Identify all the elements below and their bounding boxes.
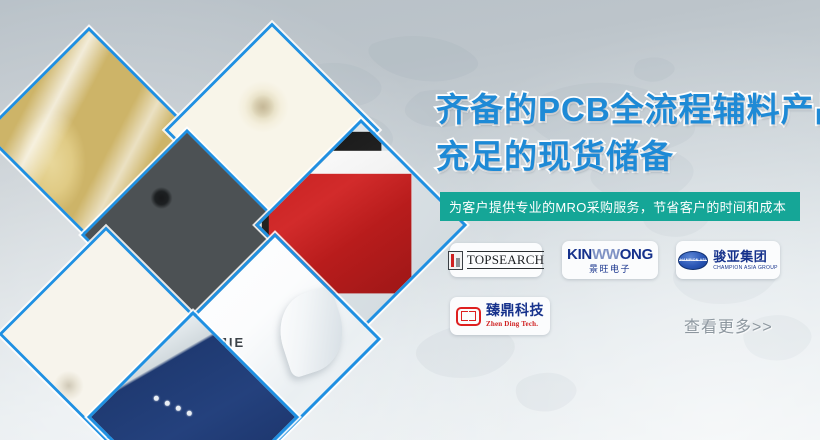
headline-line-2: 充足的现货储备 <box>436 133 820 180</box>
client-logo-topsearch[interactable]: TOPSEARCH <box>450 243 542 277</box>
product-image-collage: JIE <box>0 0 420 440</box>
bead-row-decoration <box>154 396 200 418</box>
promo-banner: JIE 齐备的PCB全流程辅料产品、 充足的现货储备 为客户提供专业的MRO采购… <box>0 0 820 440</box>
banner-subtitle-bar: 为客户提供专业的MRO采购服务，节省客户的时间和成本 <box>440 192 800 221</box>
topsearch-mark-icon <box>448 251 463 270</box>
headline-line-1: 齐备的PCB全流程辅料产品、 <box>436 86 820 133</box>
zhen-ding-name-cn-label: 臻鼎科技 <box>486 305 544 319</box>
banner-headline: 齐备的PCB全流程辅料产品、 充足的现货储备 <box>436 86 820 180</box>
champion-asia-name-en-label: CHAMPION ASIA GROUP <box>713 266 778 271</box>
kinwong-name-en-label: KINWWONG <box>567 247 653 262</box>
zhen-ding-name-en-label: Zhen Ding Tech. <box>486 321 544 328</box>
kinwong-name-cn-label: 景旺电子 <box>567 265 653 274</box>
globe-inner-text: CHAMPION ASIA <box>678 258 708 262</box>
champion-asia-name-cn-label: 骏亚集团 <box>713 250 778 263</box>
client-logo-zhen-ding[interactable]: 臻鼎科技 Zhen Ding Tech. <box>450 297 550 335</box>
client-logo-kinwong[interactable]: KINWWONG 景旺电子 <box>562 241 658 279</box>
view-more-link[interactable]: 查看更多>> <box>684 313 773 337</box>
globe-icon: CHAMPION ASIA <box>678 251 708 270</box>
banner-subtitle-text: 为客户提供专业的MRO采购服务，节省客户的时间和成本 <box>449 197 786 216</box>
kinwong-w-glyph: WW <box>592 246 620 263</box>
zhen-ding-mark-icon <box>456 307 481 326</box>
topsearch-name-label: TOPSEARCH <box>467 251 544 269</box>
sheet-curl-shape <box>269 285 354 379</box>
client-logo-champion-asia[interactable]: CHAMPION ASIA 骏亚集团 CHAMPION ASIA GROUP <box>676 241 780 279</box>
